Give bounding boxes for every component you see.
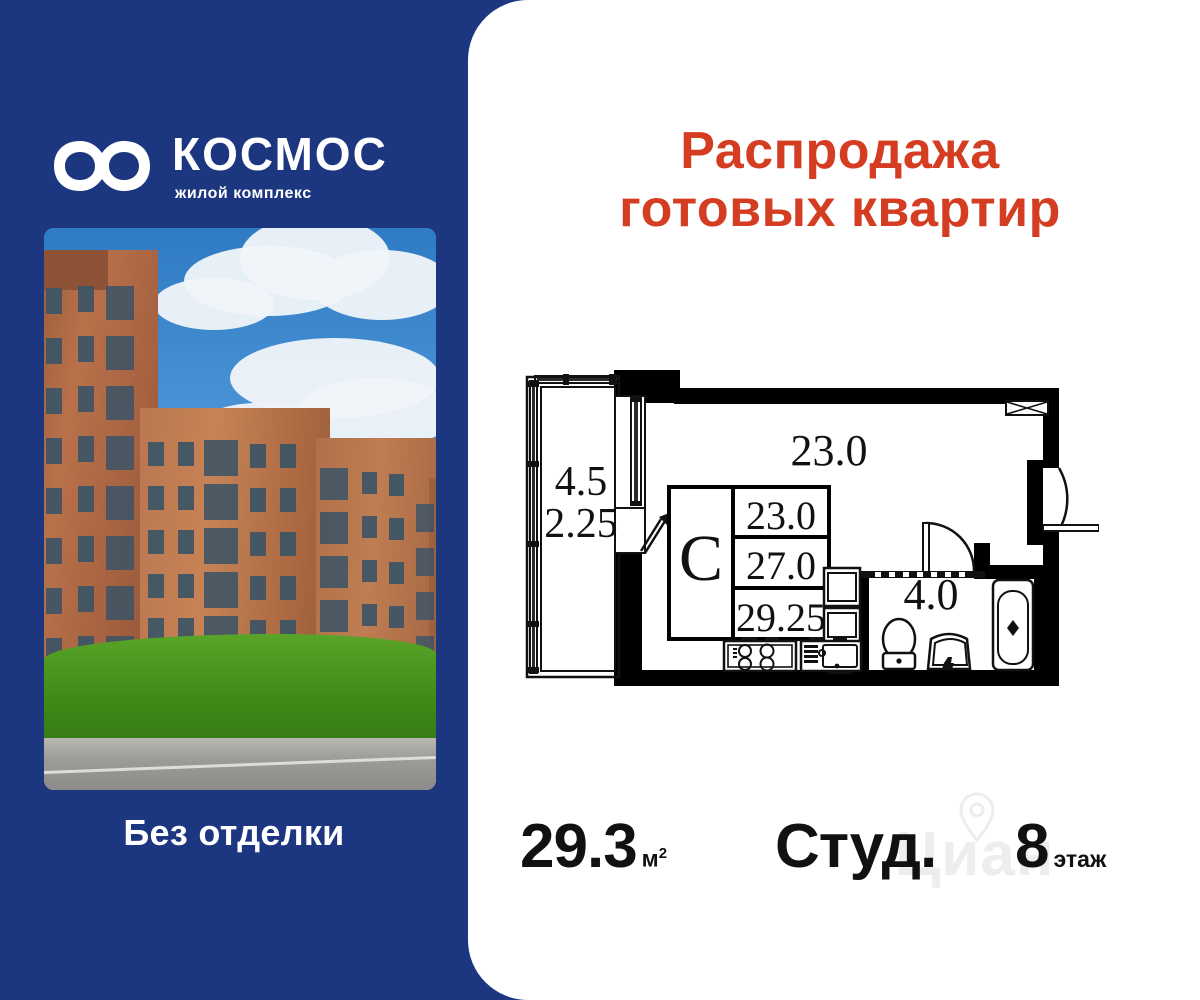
svg-text:4.5: 4.5 xyxy=(555,459,608,505)
road-marking xyxy=(44,756,436,774)
rooms-label: Студ. xyxy=(775,816,936,878)
headline-line-1: Распродажа xyxy=(520,122,1160,180)
road xyxy=(44,738,436,790)
svg-text:23.0: 23.0 xyxy=(746,493,816,538)
svg-text:29.25: 29.25 xyxy=(736,595,826,640)
floor-label: этаж xyxy=(1053,846,1106,873)
lawn xyxy=(44,634,436,744)
building-photo xyxy=(44,228,436,790)
rooms-spec: Студ. xyxy=(775,816,936,878)
area-spec: 29.3 м2 xyxy=(520,816,667,878)
svg-text:23.0: 23.0 xyxy=(791,426,868,475)
brand-logo: КОСМОС жилой комплекс xyxy=(50,118,450,214)
area-value: 29.3 xyxy=(520,816,637,878)
spec-row: 29.3 м2 Студ. 8 этаж xyxy=(500,808,1180,892)
brand-name: КОСМОС xyxy=(172,131,388,177)
floor-spec: 8 этаж xyxy=(1015,816,1106,878)
page-title: Распродажа готовых квартир xyxy=(520,122,1160,238)
finish-caption: Без отделки xyxy=(0,812,468,854)
infinity-loop-icon xyxy=(50,135,154,197)
ad-card: КОСМОС жилой комплекс xyxy=(0,0,1200,1000)
headline-line-2: готовых квартир xyxy=(520,180,1160,238)
svg-text:27.0: 27.0 xyxy=(746,543,816,588)
svg-text:2.25: 2.25 xyxy=(544,501,618,547)
floor-value: 8 xyxy=(1015,816,1048,878)
svg-text:С: С xyxy=(679,522,723,595)
area-unit: м2 xyxy=(642,845,667,873)
brand-subtitle: жилой комплекс xyxy=(175,186,388,202)
floor-plan: С 23.0 27.0 29.25 4.5 2.25 23.0 4.0 xyxy=(519,365,1099,690)
